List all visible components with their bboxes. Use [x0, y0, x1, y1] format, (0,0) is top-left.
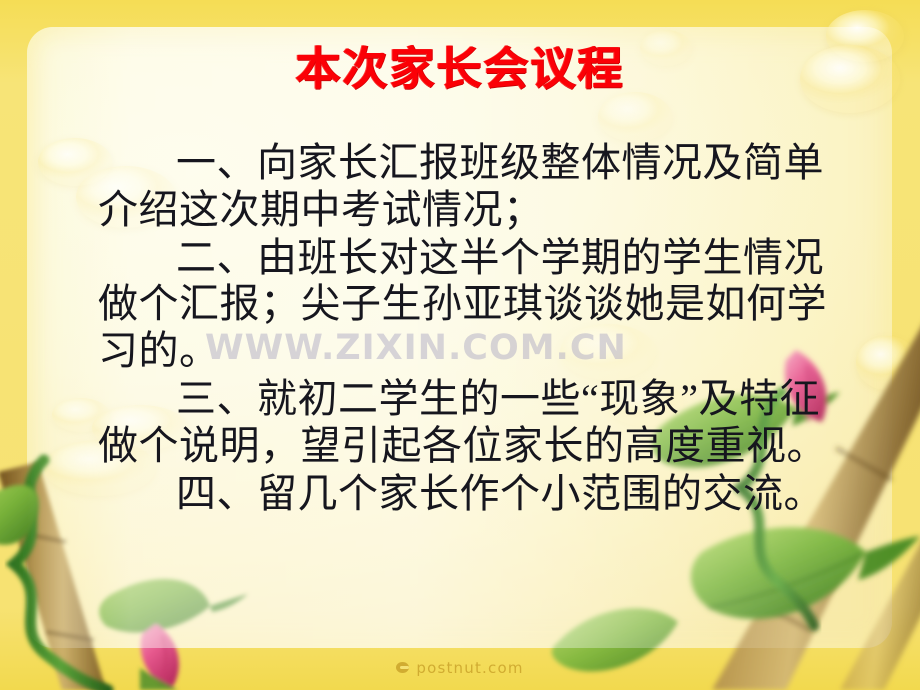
title-area: 本次家长会议程 — [0, 44, 920, 94]
agenda-list: 一、向家长汇报班级整体情况及简单介绍这次期中考试情况； 二、由班长对这半个学期的… — [98, 140, 828, 518]
agenda-item-3: 三、就初二学生的一些“现象”及特征做个说明，望引起各位家长的高度重视。 — [98, 376, 828, 470]
slide-title: 本次家长会议程 — [295, 44, 624, 94]
agenda-item-2: 二、由班长对这半个学期的学生情况做个汇报；尖子生孙亚琪谈谈她是如何学习的。 — [98, 235, 828, 375]
presentation-slide: WWW.ZIXIN.COM.CN 本次家长会议程 一、向家长汇报班级整体情况及简… — [0, 0, 920, 690]
agenda-item-4: 四、留几个家长作个小范围的交流。 — [98, 471, 828, 518]
agenda-item-1: 一、向家长汇报班级整体情况及简单介绍这次期中考试情况； — [98, 140, 828, 234]
